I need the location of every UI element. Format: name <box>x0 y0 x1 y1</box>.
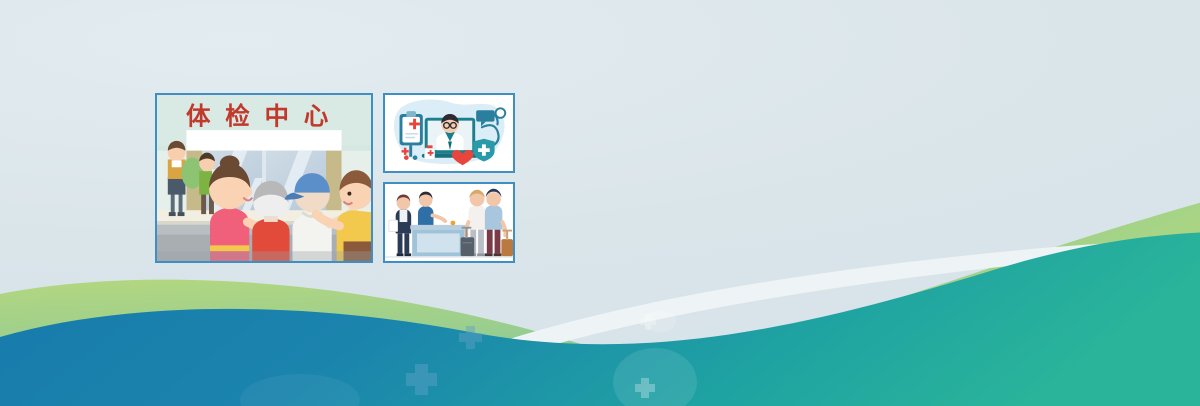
floor-strip <box>157 251 371 261</box>
stethoscope-head <box>496 108 506 118</box>
signage-char-1: 体 <box>186 101 211 130</box>
clipboard-wheel-2 <box>413 155 418 160</box>
entrance-pillar-right <box>326 151 342 217</box>
reception-floor-line <box>385 256 513 257</box>
panel-health-exam-center[interactable]: 体检中心 体 检 中 <box>155 93 373 263</box>
woman-ear <box>244 187 252 197</box>
clipboard-icon <box>400 111 423 145</box>
counter-bell <box>450 221 455 226</box>
woman-hair-bun <box>220 156 240 172</box>
illustration-panel-cluster: 体检中心 体 检 中 <box>155 93 515 265</box>
panel-telemedicine[interactable]: Online doctor consultation on a laptop s… <box>383 93 515 173</box>
elder-woman-neck <box>264 216 278 222</box>
signage-char-3: 中 <box>264 101 289 130</box>
woman-waistband <box>210 245 249 251</box>
signage-banner-strip <box>186 130 341 151</box>
clipboard-wheel-1 <box>404 155 409 160</box>
signage-char-4: 心 <box>304 101 329 130</box>
panel-reception-desk[interactable]: Reception counter with staff greeting tr… <box>383 182 515 263</box>
reception-counter <box>410 225 466 256</box>
signage-char-2: 检 <box>225 101 250 130</box>
clipboard-stand <box>409 145 412 156</box>
banner-root: 体检中心 体 检 中 <box>0 0 1200 406</box>
staff-eye <box>347 192 351 196</box>
